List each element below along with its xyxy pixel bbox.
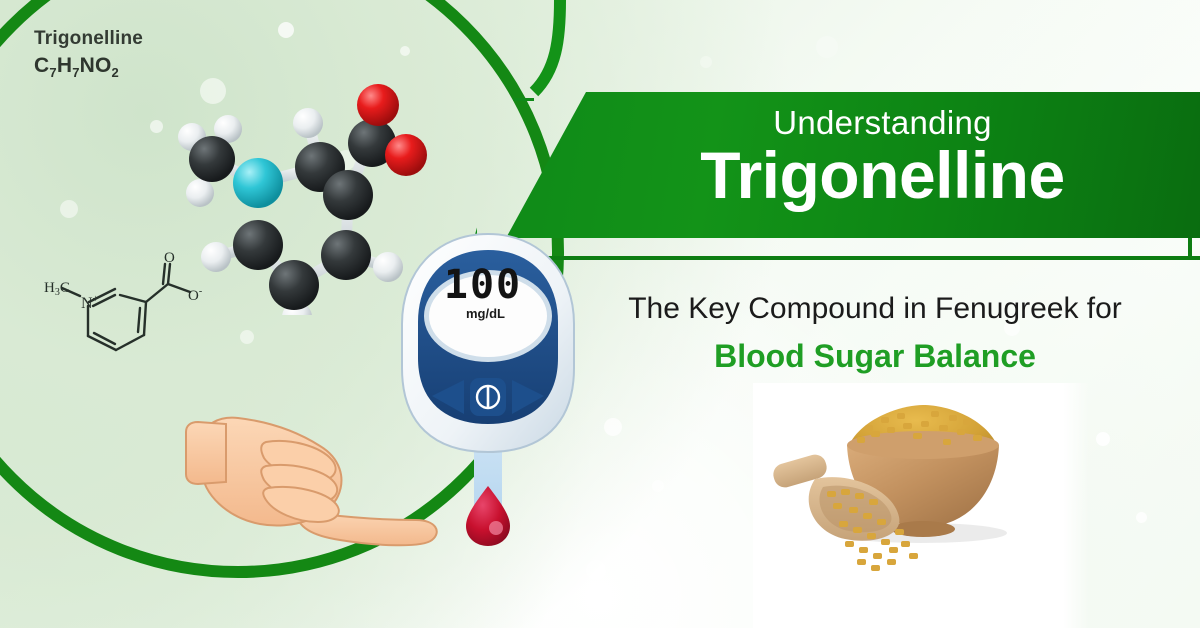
formula-o: O <box>95 54 112 77</box>
skeletal-methyl-label: H3C <box>44 280 70 298</box>
hydrogen-atom <box>293 108 323 138</box>
formula-o-sub: 2 <box>112 65 119 80</box>
banner-underline <box>520 256 1200 260</box>
banner-title-small: Understanding <box>580 104 1185 142</box>
trigonelline-skeletal-formula: H3C N+ O O- <box>20 248 220 368</box>
compound-name-label: Trigonelline <box>34 28 143 50</box>
subtitle-line-2: Blood Sugar Balance <box>560 338 1190 375</box>
blood-drop <box>466 486 510 546</box>
formula-n: N <box>80 54 95 77</box>
formula-h-sub: 7 <box>72 65 79 80</box>
skeletal-carbonyl-oxygen-label: O <box>164 250 175 266</box>
skeletal-anion-oxygen-label: O- <box>188 286 202 304</box>
banner-title-large: Trigonelline <box>580 142 1185 208</box>
subtitle-line-1: The Key Compound in Fenugreek for <box>560 292 1190 326</box>
infographic-banner: Trigonelline C7H7NO2 H3C N+ O O <box>0 0 1200 628</box>
oxygen-atom <box>357 84 399 126</box>
fenugreek-seeds-image <box>753 383 1063 628</box>
wrist <box>186 422 226 484</box>
compound-formula-label: C7H7NO2 <box>34 54 119 80</box>
carbon-atom <box>269 260 319 310</box>
banner-underline-cap <box>1188 238 1192 260</box>
hydrogen-atom <box>186 179 214 207</box>
fenugreek-photo-panel <box>753 383 1063 628</box>
formula-h: H <box>57 54 72 77</box>
blood-drop-highlight <box>489 521 503 535</box>
skeletal-nitrogen-label: N+ <box>81 294 99 312</box>
formula-c: C <box>34 54 49 77</box>
carbon-atom <box>189 136 235 182</box>
carbon-atom <box>323 170 373 220</box>
power-icon-bar <box>487 387 490 407</box>
nitrogen-atom <box>233 158 283 208</box>
carbon-atom <box>233 220 283 270</box>
glucose-reading: 100 <box>431 262 535 308</box>
oxygen-atom <box>385 134 427 176</box>
carbon-atom <box>321 230 371 280</box>
glucose-unit: mg/dL <box>466 306 536 321</box>
formula-c-sub: 7 <box>49 65 56 80</box>
